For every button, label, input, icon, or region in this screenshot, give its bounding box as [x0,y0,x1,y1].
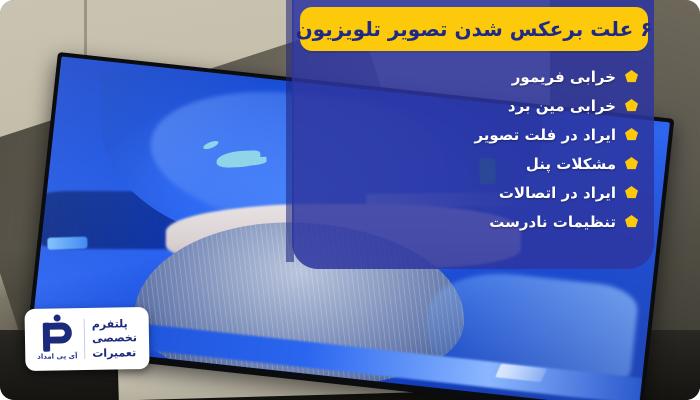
list-item-label: ایراد در اتصالات [499,184,616,202]
list-item-label: ایراد در فلت تصویر [474,126,616,144]
list-item: خرابی فریمور [300,62,648,91]
list-item: ایراد در فلت تصویر [300,120,648,149]
list-item-label: خرابی فریمور [512,68,616,86]
brand-line-2: تخصصی [92,331,137,345]
pentagon-bullet-icon [625,128,638,141]
pentagon-bullet-icon [625,157,638,170]
list-item: تنظیمات نادرست [300,207,648,236]
pentagon-bullet-icon [625,99,638,112]
brand-logo-divider [84,319,86,359]
pentagon-bullet-icon [625,215,638,228]
list-item: ایراد در اتصالات [300,178,648,207]
title-banner: ۶ علت برعکس شدن تصویر تلویزیون [300,7,648,51]
brand-subtitle: آی پی امداد [37,352,77,361]
list-item: خرابی مین برد [300,91,648,120]
ip-emdad-logo-icon: آی پی امداد [37,316,78,363]
brand-line-1: پلتفرم [92,317,128,331]
list-item-label: خرابی مین برد [508,97,616,115]
logo-glyph-dot [54,314,61,321]
pentagon-bullet-icon [625,70,638,83]
logo-glyph-bowl [47,322,72,343]
list-item: مشکلات پنل [300,149,648,178]
list-item-label: تنظیمات نادرست [489,213,616,231]
causes-list: خرابی فریمور خرابی مین برد ایراد در فلت … [300,62,648,236]
brand-line-3: تعمیرات [92,346,136,360]
brand-logo-card: پلتفرم تخصصی تعمیرات آی پی امداد [24,307,149,371]
pentagon-bullet-icon [625,186,638,199]
infographic-canvas: ۶ علت برعکس شدن تصویر تلویزیون خرابی فری… [0,0,700,400]
page-title: ۶ علت برعکس شدن تصویر تلویزیون [296,19,653,39]
logo-glyph-p [40,318,75,352]
list-item-label: مشکلات پنل [526,155,616,173]
brand-logo-words: پلتفرم تخصصی تعمیرات [92,317,138,360]
